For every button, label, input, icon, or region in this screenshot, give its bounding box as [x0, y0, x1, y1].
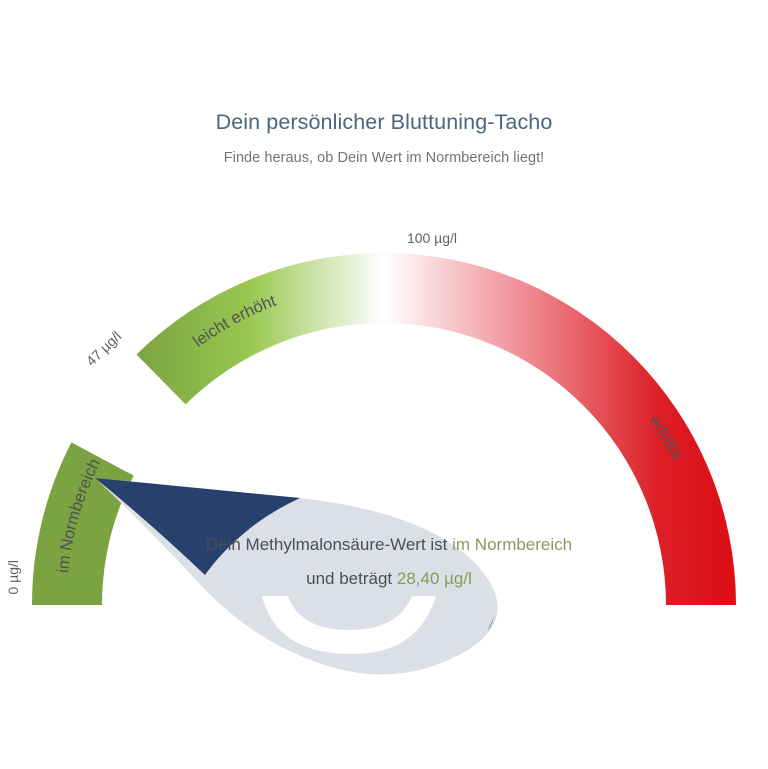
callout-line-2-accent: 28,40 µg/l	[397, 569, 472, 588]
tick-label-0: 0 µg/l	[5, 560, 21, 595]
callout-line-2-prefix: und beträgt	[306, 569, 397, 588]
tick-label-100: 100 µg/l	[407, 230, 457, 246]
gauge-chart: Dein persönlicher Bluttuning-Tacho Finde…	[0, 0, 768, 769]
callout-line-1-prefix: Dein Methylmalonsäure-Wert ist	[206, 535, 452, 554]
tick-label-47: 47 µg/l	[83, 328, 125, 369]
callout-line-1-accent: im Normbereich	[452, 535, 572, 554]
gauge-graphic: 0 µg/l 47 µg/l 100 µg/l im Normbereich l…	[0, 0, 768, 769]
callout-line-2: und beträgt 28,40 µg/l	[306, 569, 472, 588]
callout-line-1: Dein Methylmalonsäure-Wert ist im Normbe…	[206, 535, 572, 554]
gauge-zone-leicht-erhoeht	[136, 253, 384, 404]
gauge-needle-callout: Dein Methylmalonsäure-Wert ist im Normbe…	[95, 478, 572, 700]
